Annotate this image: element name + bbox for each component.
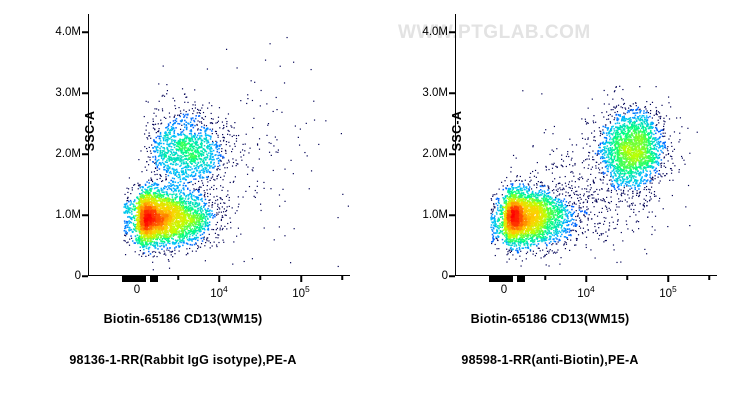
- y-tick-mark-3: [82, 92, 88, 94]
- y-tick-label-3: 3.0M: [422, 87, 448, 99]
- plot-area-left: SSC-A 0 1.0M 2.0M 3.0M 4.0M 0 104 105: [88, 14, 350, 276]
- x-tick-mark-0: [136, 276, 138, 282]
- x-tick-label-0: 0: [134, 284, 140, 296]
- x-axis-title-right: Biotin-65186 CD13(WM15): [367, 312, 733, 326]
- y-tick-label-2: 2.0M: [55, 148, 81, 160]
- figure-root: WWW.PTGLAB.COM SSC-A 0 1.0M 2.0M 3.0M 4.…: [0, 0, 733, 402]
- x-tick-label-1: 104: [210, 284, 228, 300]
- y-tick-mark-4: [82, 31, 88, 33]
- y-tick-label-1: 1.0M: [422, 209, 448, 221]
- x-tick-mark-minor-1: [259, 276, 261, 280]
- x-tick-label-1: 104: [577, 284, 595, 300]
- y-tick-label-3: 3.0M: [55, 87, 81, 99]
- x-tick-label-0: 0: [501, 284, 507, 296]
- negative-population-bar-a: [122, 276, 146, 282]
- y-tick-mark-3: [449, 92, 455, 94]
- scatter-canvas-right: [455, 14, 717, 276]
- scatter-canvas-left: [88, 14, 350, 276]
- x-tick-mark-minor-0: [177, 276, 179, 280]
- y-tick-label-2: 2.0M: [422, 148, 448, 160]
- panel-caption-right: 98598-1-RR(anti-Biotin),PE-A: [367, 353, 733, 367]
- y-tick-label-0: 0: [442, 270, 448, 282]
- y-tick-mark-0: [449, 275, 455, 277]
- y-tick-label-0: 0: [75, 270, 81, 282]
- x-axis-title-left: Biotin-65186 CD13(WM15): [0, 312, 366, 326]
- panel-right: SSC-A 0 1.0M 2.0M 3.0M 4.0M 0 104 105 Bi…: [367, 0, 733, 402]
- y-tick-mark-0: [82, 275, 88, 277]
- y-tick-label-1: 1.0M: [55, 209, 81, 221]
- x-tick-mark-2: [667, 276, 669, 282]
- y-tick-mark-2: [82, 153, 88, 155]
- y-axis-label-left: SSC-A: [83, 51, 97, 211]
- panel-caption-left: 98136-1-RR(Rabbit IgG isotype),PE-A: [0, 353, 366, 367]
- x-tick-mark-1: [585, 276, 587, 282]
- x-tick-mark-minor-0: [544, 276, 546, 280]
- x-tick-mark-minor-2: [708, 276, 710, 280]
- y-axis-label-right: SSC-A: [450, 51, 464, 211]
- x-tick-mark-minor-2: [341, 276, 343, 280]
- plot-area-right: SSC-A 0 1.0M 2.0M 3.0M 4.0M 0 104 105: [455, 14, 717, 276]
- y-tick-mark-4: [449, 31, 455, 33]
- y-tick-mark-2: [449, 153, 455, 155]
- x-tick-mark-0: [503, 276, 505, 282]
- x-tick-label-2: 105: [292, 284, 310, 300]
- negative-population-bar-b: [517, 276, 525, 282]
- negative-population-bar-b: [150, 276, 158, 282]
- y-tick-label-4: 4.0M: [55, 26, 81, 38]
- y-tick-label-4: 4.0M: [422, 26, 448, 38]
- negative-population-bar-a: [489, 276, 513, 282]
- x-tick-label-2: 105: [659, 284, 677, 300]
- x-tick-mark-2: [300, 276, 302, 282]
- x-tick-mark-1: [218, 276, 220, 282]
- y-tick-mark-1: [449, 214, 455, 216]
- y-tick-mark-1: [82, 214, 88, 216]
- panel-left: SSC-A 0 1.0M 2.0M 3.0M 4.0M 0 104 105 Bi…: [0, 0, 366, 402]
- x-tick-mark-minor-1: [626, 276, 628, 280]
